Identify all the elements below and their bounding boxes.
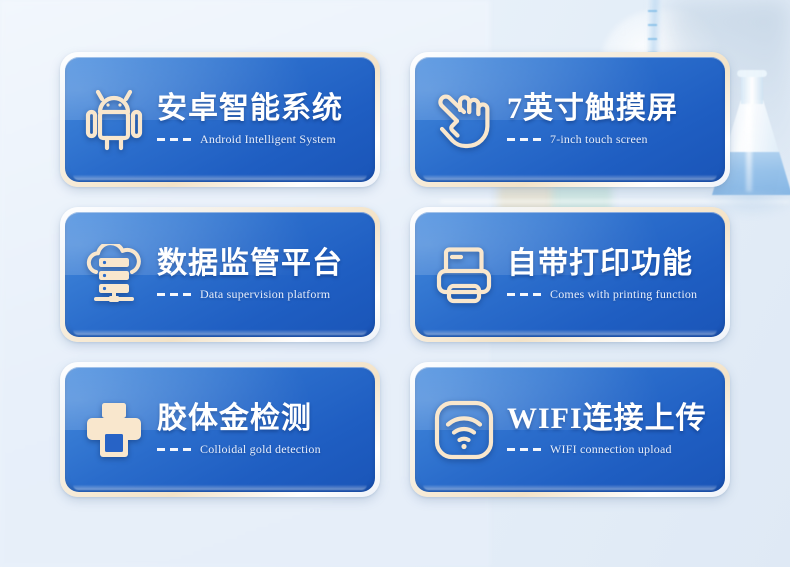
card-subtitle: WIFI connection upload <box>550 442 672 457</box>
card-title: 胶体金检测 <box>157 402 365 436</box>
feature-card-colloidal-gold-detection[interactable]: 胶体金检测 Colloidal gold detection <box>60 362 380 497</box>
printer-solid-icon <box>65 367 157 492</box>
card-subtitle: Colloidal gold detection <box>200 442 321 457</box>
dash-separator-icon <box>507 448 541 451</box>
card-face: 胶体金检测 Colloidal gold detection <box>65 367 375 492</box>
card-subtitle: 7-inch touch screen <box>550 132 648 147</box>
card-title: 自带打印功能 <box>507 247 715 281</box>
feature-card-grid: 安卓智能系统 Android Intelligent System <box>0 0 790 567</box>
card-text: WIFI连接上传 WIFI connection upload <box>507 402 725 458</box>
feature-card-comes-with-printing-function[interactable]: 自带打印功能 Comes with printing function <box>410 207 730 342</box>
dash-separator-icon <box>507 138 541 141</box>
card-text: 胶体金检测 Colloidal gold detection <box>157 402 375 458</box>
card-face: 安卓智能系统 Android Intelligent System <box>65 57 375 182</box>
card-face: 7英寸触摸屏 7-inch touch screen <box>415 57 725 182</box>
feature-card-seven-inch-touch-screen[interactable]: 7英寸触摸屏 7-inch touch screen <box>410 52 730 187</box>
card-subtitle-row: WIFI connection upload <box>507 442 715 457</box>
cloud-server-icon <box>65 212 157 337</box>
dash-separator-icon <box>157 293 191 296</box>
card-face: 自带打印功能 Comes with printing function <box>415 212 725 337</box>
card-text: 数据监管平台 Data supervision platform <box>157 247 375 303</box>
card-text: 7英寸触摸屏 7-inch touch screen <box>507 92 725 148</box>
printer-outline-icon <box>415 212 507 337</box>
android-robot-icon <box>65 57 157 182</box>
dash-separator-icon <box>157 448 191 451</box>
card-face: WIFI连接上传 WIFI connection upload <box>415 367 725 492</box>
feature-card-android-intelligent-system[interactable]: 安卓智能系统 Android Intelligent System <box>60 52 380 187</box>
hand-tap-icon <box>415 57 507 182</box>
card-text: 自带打印功能 Comes with printing function <box>507 247 725 303</box>
card-title: 7英寸触摸屏 <box>507 92 715 126</box>
card-subtitle-row: Data supervision platform <box>157 287 365 302</box>
card-subtitle: Android Intelligent System <box>200 132 336 147</box>
card-subtitle-row: 7-inch touch screen <box>507 132 715 147</box>
card-subtitle-row: Comes with printing function <box>507 287 715 302</box>
card-face: 数据监管平台 Data supervision platform <box>65 212 375 337</box>
card-title: 安卓智能系统 <box>157 92 365 126</box>
card-subtitle: Data supervision platform <box>200 287 330 302</box>
dash-separator-icon <box>507 293 541 296</box>
card-subtitle: Comes with printing function <box>550 287 697 302</box>
card-subtitle-row: Android Intelligent System <box>157 132 365 147</box>
card-subtitle-row: Colloidal gold detection <box>157 442 365 457</box>
card-text: 安卓智能系统 Android Intelligent System <box>157 92 375 148</box>
feature-card-wifi-connection-upload[interactable]: WIFI连接上传 WIFI connection upload <box>410 362 730 497</box>
feature-card-data-supervision-platform[interactable]: 数据监管平台 Data supervision platform <box>60 207 380 342</box>
dash-separator-icon <box>157 138 191 141</box>
card-title: 数据监管平台 <box>157 247 365 281</box>
card-title: WIFI连接上传 <box>507 402 715 436</box>
wifi-rounded-square-icon <box>415 367 507 492</box>
